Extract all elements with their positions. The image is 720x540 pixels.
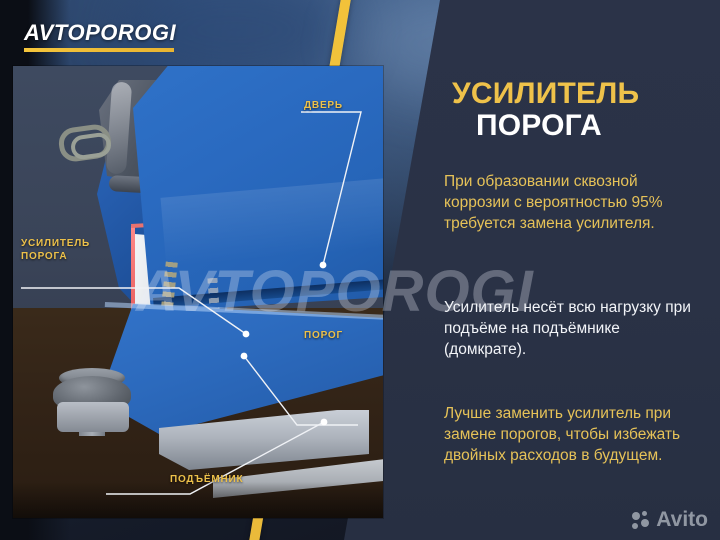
paragraph-load: Усилитель несёт всю нагрузку при подъёме…	[444, 298, 706, 360]
avito-watermark-label: Avito	[656, 508, 708, 532]
lift-pad-base	[57, 402, 129, 432]
brand-logo-underline	[24, 48, 174, 52]
brand-logo[interactable]: AVTOPOROGI	[24, 22, 176, 52]
paragraph-advice: Лучше заменить усилитель при замене поро…	[444, 404, 706, 466]
callout-label-reinforcer: УСИЛИТЕЛЬ ПОРОГА	[21, 238, 90, 263]
page-title: УСИЛИТЕЛЬ ПОРОГА	[452, 78, 708, 143]
page-title-line1: УСИЛИТЕЛЬ	[452, 78, 708, 110]
floor-shadow	[13, 482, 383, 518]
callout-label-sill: ПОРОГ	[304, 330, 343, 343]
avito-dots-icon	[632, 511, 651, 530]
page-title-line2: ПОРОГА	[476, 110, 708, 142]
callout-label-lift: ПОДЪЁМНИК	[170, 474, 243, 487]
poster-canvas: AVTOPOROGI	[0, 0, 720, 540]
avito-watermark: Avito	[632, 508, 708, 532]
brand-logo-text: AVTOPOROGI	[24, 22, 176, 44]
callout-label-door: ДВЕРЬ	[304, 100, 343, 113]
paragraph-corrosion: При образовании сквозной коррозии с веро…	[444, 172, 706, 234]
